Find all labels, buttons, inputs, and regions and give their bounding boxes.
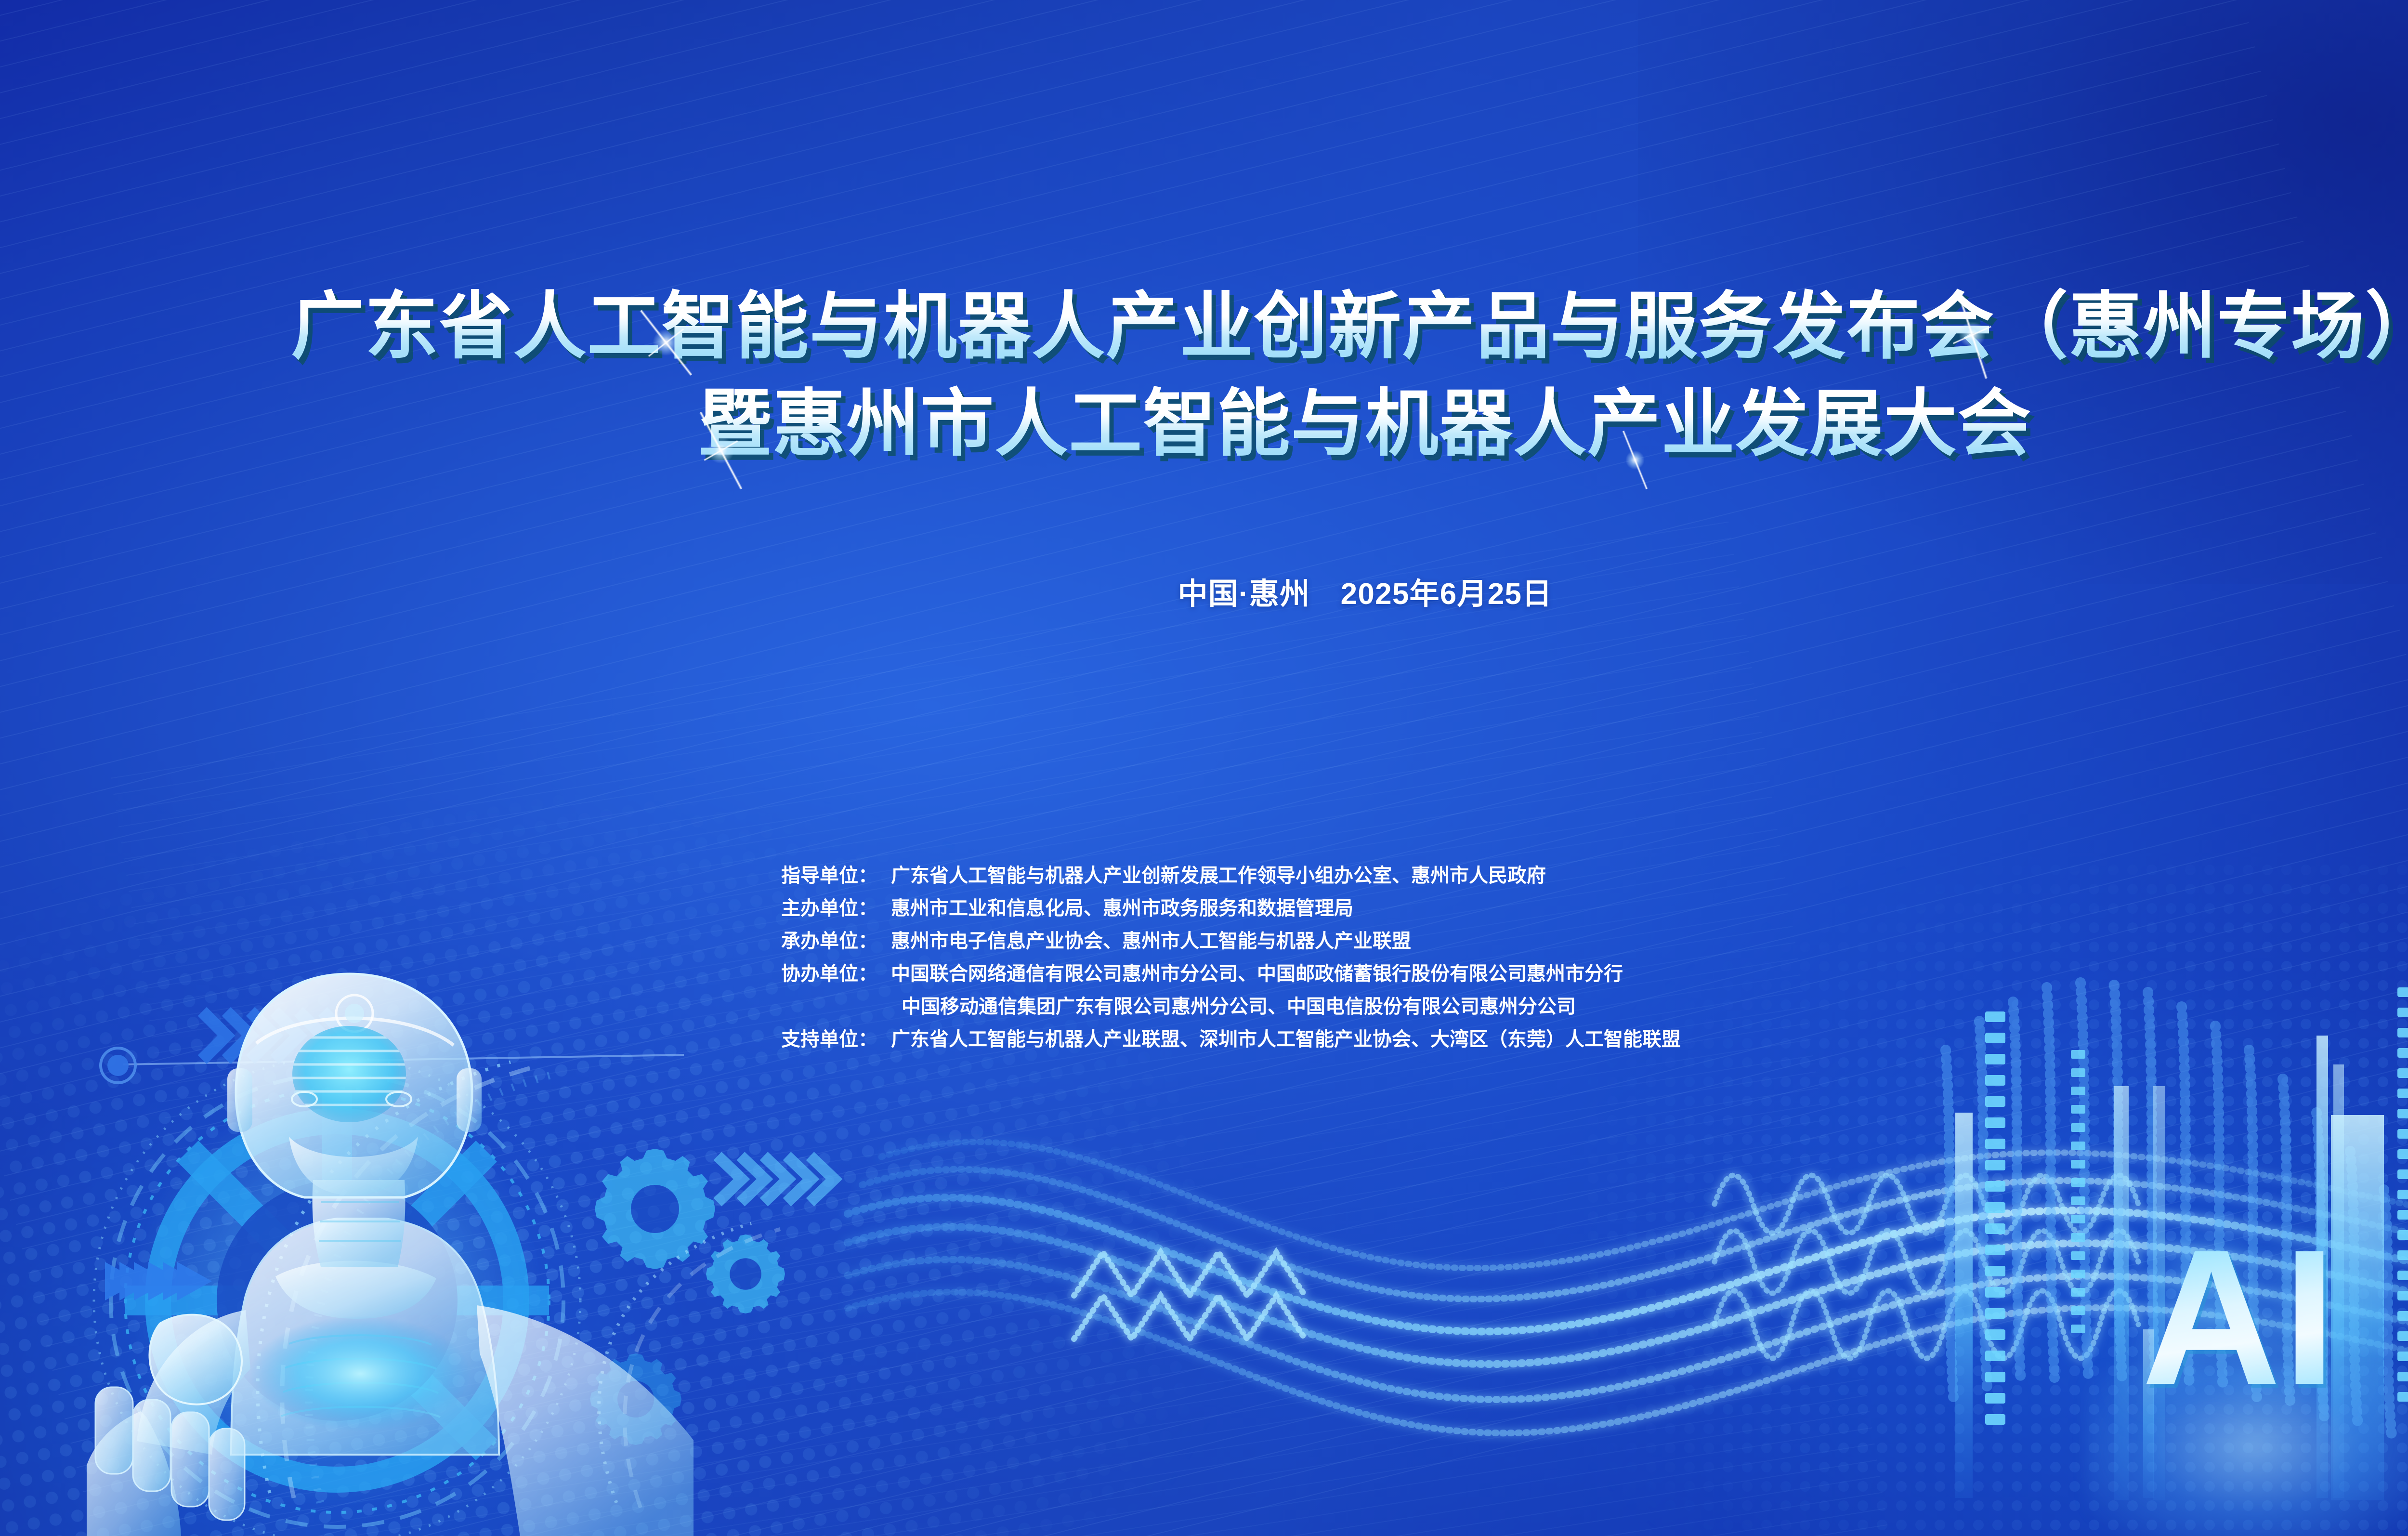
- organizer-value: 广东省人工智能与机器人产业联盟、深圳市人工智能产业协会、大湾区（东莞）人工智能联…: [891, 1030, 2226, 1049]
- dashed-arcs-mid: [599, 1223, 780, 1508]
- organizer-row-coorganizer: 协办单位： 中国联合网络通信有限公司惠州市分公司、中国邮政储蓄银行股份有限公司惠…: [781, 964, 2226, 984]
- organizer-label: 指导单位：: [781, 866, 891, 885]
- organizer-row-support: 支持单位： 广东省人工智能与机器人产业联盟、深圳市人工智能产业协会、大湾区（东莞…: [781, 1030, 2226, 1049]
- segmented-bar-a: [1985, 1011, 2005, 1425]
- chevron-arrows-icon-right: [718, 1156, 834, 1202]
- organizer-label: 主办单位：: [781, 899, 891, 918]
- triangle-arrows-icon: [105, 1262, 212, 1300]
- ai-wordmark: AI: [2142, 1221, 2338, 1414]
- robot-figure: [87, 930, 694, 1536]
- gear-icon-bottom: [590, 1353, 681, 1445]
- robot-head: [227, 974, 482, 1197]
- gear-icon-small: [706, 1234, 785, 1313]
- organizer-value: 广东省人工智能与机器人产业创新发展工作领导小组办公室、惠州市人民政府: [891, 866, 2226, 885]
- organizer-label: 协办单位：: [781, 964, 891, 984]
- dashed-arcs-left: [258, 1062, 559, 1503]
- segmented-bar-b: [2071, 1050, 2085, 1333]
- gear-ring-large-icon: [94, 1057, 580, 1536]
- node-connector-icon: [101, 1048, 684, 1083]
- organizer-value: 中国联合网络通信有限公司惠州市分公司、中国邮政储蓄银行股份有限公司惠州市分行: [891, 964, 2226, 984]
- organizer-list: 指导单位： 广东省人工智能与机器人产业创新发展工作领导小组办公室、惠州市人民政府…: [781, 866, 2226, 1063]
- gear-icon-large: [595, 1149, 715, 1269]
- chevron-arrows-icon: [202, 1011, 347, 1060]
- segmented-bar-c: [2397, 987, 2408, 1402]
- poster-canvas: 广东省人工智能与机器人产业创新产品与服务发布会（惠州专场） 暨惠州市人工智能与机…: [0, 0, 2408, 1536]
- robot-crest-icon: [336, 995, 373, 1032]
- organizer-row-guidance: 指导单位： 广东省人工智能与机器人产业创新发展工作领导小组办公室、惠州市人民政府: [781, 866, 2226, 885]
- robot-neck: [313, 1180, 406, 1267]
- robot-torso: [231, 1219, 499, 1455]
- organizer-label: 支持单位：: [781, 1030, 891, 1049]
- organizer-value: 惠州市工业和信息化局、惠州市政务服务和数据管理局: [891, 899, 2226, 918]
- diagonal-hairlines: [0, 0, 2408, 1536]
- decor-layer: [0, 0, 2408, 1536]
- organizer-label: 承办单位：: [781, 932, 891, 951]
- halftone-dot-field-left: [0, 692, 1266, 1536]
- organizer-row-coorganizer-continued: 中国移动通信集团广东有限公司惠州分公司、中国电信股份有限公司惠州分公司: [891, 997, 2226, 1016]
- poster-headline: 广东省人工智能与机器人产业创新产品与服务发布会（惠州专场） 暨惠州市人工智能与机…: [0, 284, 2408, 467]
- title-line-1: 广东省人工智能与机器人产业创新产品与服务发布会（惠州专场）: [0, 284, 2408, 369]
- organizer-value: 惠州市电子信息产业协会、惠州市人工智能与机器人产业联盟: [891, 932, 2226, 951]
- event-datetime-location: 中国·惠州 2025年6月25日: [0, 569, 2408, 613]
- organizer-value: 中国移动通信集团广东有限公司惠州分公司、中国电信股份有限公司惠州分公司: [902, 997, 2226, 1016]
- robot-arm-left: [87, 1310, 250, 1536]
- robot-arm-right: [477, 1305, 694, 1536]
- title-line-2: 暨惠州市人工智能与机器人产业发展大会: [0, 381, 2408, 466]
- organizer-row-host: 主办单位： 惠州市工业和信息化局、惠州市政务服务和数据管理局: [781, 899, 2226, 918]
- organizer-row-undertaker: 承办单位： 惠州市电子信息产业协会、惠州市人工智能与机器人产业联盟: [781, 932, 2226, 951]
